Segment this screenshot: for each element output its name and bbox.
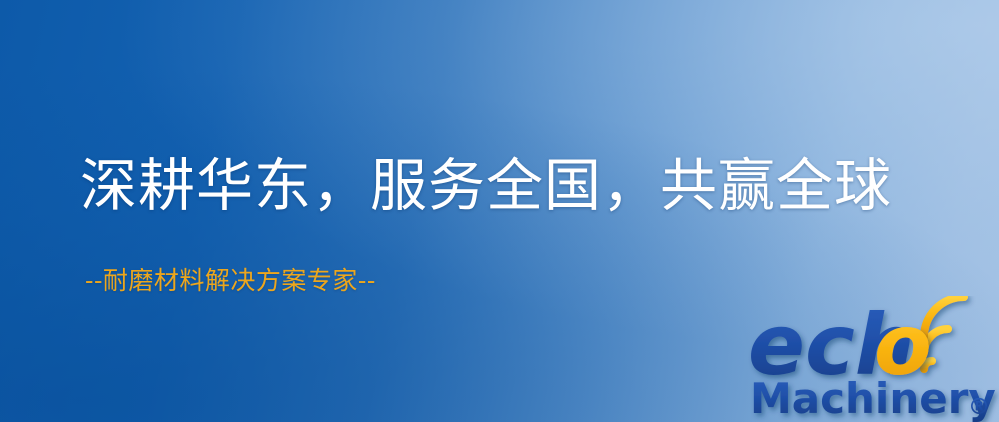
banner-subtitle: --耐磨材料解决方案专家--	[85, 265, 376, 297]
logo-registered-mark: ®	[968, 395, 990, 420]
banner-headline: 深耕华东，服务全国，共赢全球	[80, 152, 892, 220]
echo-machinery-logo[interactable]: ech o Machinery ®	[748, 296, 999, 422]
logo-subbrand-machinery: Machinery	[750, 374, 996, 422]
promotional-banner: 深耕华东，服务全国，共赢全球 --耐磨材料解决方案专家--	[0, 0, 999, 422]
